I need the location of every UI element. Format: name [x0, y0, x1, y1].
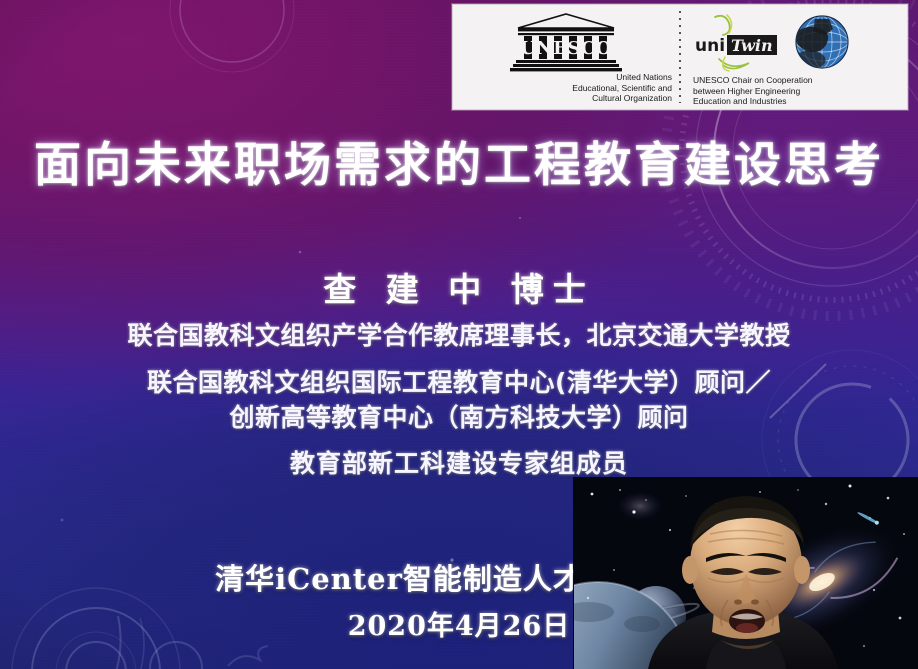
- speaker-affiliation-line-3: 创新高等教育中心（南方科技大学）顾问: [0, 398, 918, 434]
- svg-text:uni: uni: [695, 36, 725, 56]
- logo-dotted-divider: [673, 8, 687, 105]
- chair-caption-line-1: UNESCO Chair on Cooperation: [693, 75, 813, 86]
- chair-caption-line-2: between Higher Engineering: [693, 86, 813, 97]
- presentation-slide-view: UNESCO United Nations Educational, Scien…: [0, 0, 918, 669]
- unesco-caption-line-3: Cultural Organization: [458, 93, 672, 104]
- unesco-caption-line-2: Educational, Scientific and: [458, 83, 672, 94]
- speaker-affiliation-line-2: 联合国教科文组织国际工程教育中心(清华大学）顾问／: [0, 363, 918, 399]
- unesco-caption: United Nations Educational, Scientific a…: [458, 72, 674, 104]
- globe-gear-icon: [793, 13, 851, 71]
- unitwin-chair-block: uni Twin: [687, 8, 901, 105]
- svg-text:Twin: Twin: [731, 36, 773, 55]
- unesco-caption-line-1: United Nations: [458, 72, 672, 83]
- unitwin-logo-icon: uni Twin: [691, 11, 787, 73]
- slide-main-title: 面向未来职场需求的工程教育建设思考: [0, 126, 918, 195]
- unesco-chair-caption: UNESCO Chair on Cooperation between High…: [691, 75, 813, 107]
- unesco-logo-block: UNESCO United Nations Educational, Scien…: [459, 8, 673, 105]
- speaker-affiliation-line-1: 联合国教科文组织产学合作教席理事长，北京交通大学教授: [0, 316, 918, 352]
- presenter-figure: [574, 478, 918, 669]
- svg-text:UNESCO: UNESCO: [520, 38, 612, 59]
- unesco-unitwin-logo-plate: UNESCO United Nations Educational, Scien…: [452, 4, 908, 110]
- chair-caption-line-3: Education and Industries: [693, 96, 813, 107]
- speaker-name: 查 建 中 博士: [0, 263, 918, 311]
- unesco-temple-icon: UNESCO: [506, 12, 626, 72]
- presenter-video-overlay[interactable]: [574, 478, 918, 669]
- speaker-affiliation-line-4: 教育部新工科建设专家组成员: [0, 444, 918, 480]
